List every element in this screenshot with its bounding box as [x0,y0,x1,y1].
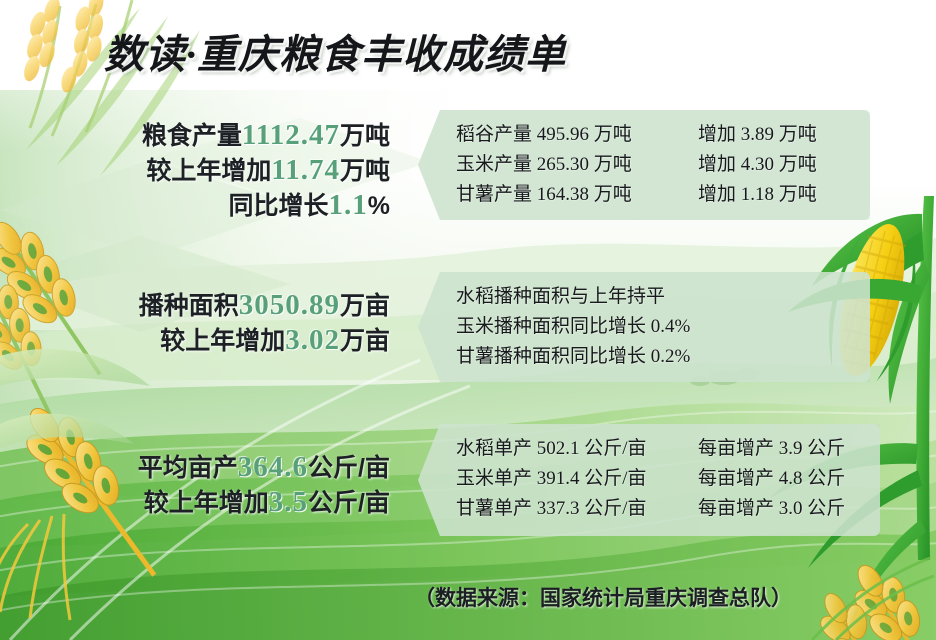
stat-value: 3.5 [269,486,308,518]
stat-value: 1.1 [329,189,368,221]
stat-unit: 万亩 [340,327,390,355]
detail-extra: 增加 3.89 万吨 [698,120,817,150]
stat-unit: 公斤/亩 [308,489,390,517]
stat-unit: 万吨 [340,157,390,185]
detail-extra: 增加 1.18 万吨 [698,180,817,210]
stat-line: 较上年增加3.5公斤/亩 [86,485,390,520]
detail-row: 玉米产量 265.30 万吨 增加 4.30 万吨 [456,150,854,180]
stat-label: 播种面积 [139,292,239,320]
stat-value: 3050.89 [239,289,340,321]
stat-label: 粮食产量 [142,122,242,150]
stat-label: 平均亩产 [138,454,238,482]
stat-value: 1112.47 [242,119,340,151]
detail-main: 水稻播种面积与上年持平 [456,282,665,312]
detail-row: 玉米播种面积同比增长 0.4% [456,312,854,342]
stat-line: 粮食产量1112.47万吨 [86,118,390,153]
detail-main: 甘薯单产 337.3 公斤/亩 [456,494,698,524]
detail-extra: 每亩增产 4.8 公斤 [698,464,845,494]
detail-main: 水稻单产 502.1 公斤/亩 [456,434,698,464]
detail-row: 水稻单产 502.1 公斤/亩 每亩增产 3.9 公斤 [456,434,864,464]
detail-main: 玉米播种面积同比增长 0.4% [456,312,690,342]
stat-line: 播种面积3050.89万亩 [86,288,390,323]
stat-line: 平均亩产364.6公斤/亩 [86,450,390,485]
stat-value: 3.02 [285,324,340,356]
stat-block-sown-area: 播种面积3050.89万亩 较上年增加3.02万亩 [86,288,390,358]
detail-row: 水稻播种面积与上年持平 [456,282,854,312]
detail-extra: 每亩增产 3.0 公斤 [698,494,845,524]
detail-row: 甘薯产量 164.38 万吨 增加 1.18 万吨 [456,180,854,210]
detail-main: 玉米单产 391.4 公斤/亩 [456,464,698,494]
data-source-note: （数据来源：国家统计局重庆调查总队） [414,582,792,612]
detail-row: 稻谷产量 495.96 万吨 增加 3.89 万吨 [456,120,854,150]
detail-extra: 增加 4.30 万吨 [698,150,817,180]
stat-label: 同比增长 [229,192,329,220]
detail-main: 稻谷产量 495.96 万吨 [456,120,698,150]
detail-panel-area: 水稻播种面积与上年持平 玉米播种面积同比增长 0.4% 甘薯播种面积同比增长 0… [418,272,870,382]
stat-block-yield-per-mu: 平均亩产364.6公斤/亩 较上年增加3.5公斤/亩 [86,450,390,520]
page-title: 数读·重庆粮食丰收成绩单 [104,22,566,80]
stat-label: 较上年增加 [146,157,271,185]
detail-row: 甘薯单产 337.3 公斤/亩 每亩增产 3.0 公斤 [456,494,864,524]
stat-line: 同比增长1.1% [86,188,390,223]
detail-panel-output: 稻谷产量 495.96 万吨 增加 3.89 万吨 玉米产量 265.30 万吨… [418,110,870,220]
stat-value: 364.6 [238,451,308,483]
stat-value: 11.74 [271,154,340,186]
stat-line: 较上年增加3.02万亩 [86,323,390,358]
detail-row: 甘薯播种面积同比增长 0.2% [456,342,854,372]
stat-line: 较上年增加11.74万吨 [86,153,390,188]
stat-unit: 公斤/亩 [308,454,390,482]
detail-main: 甘薯播种面积同比增长 0.2% [456,342,690,372]
infographic-poster: 数读·重庆粮食丰收成绩单 粮食产量1112.47万吨 较上年增加11.74万吨 … [0,0,936,640]
stat-label: 较上年增加 [144,489,269,517]
detail-extra: 每亩增产 3.9 公斤 [698,434,845,464]
stat-unit: 万吨 [340,122,390,150]
detail-row: 玉米单产 391.4 公斤/亩 每亩增产 4.8 公斤 [456,464,864,494]
stat-block-grain-output: 粮食产量1112.47万吨 较上年增加11.74万吨 同比增长1.1% [86,118,390,223]
detail-main: 甘薯产量 164.38 万吨 [456,180,698,210]
stat-unit: 万亩 [340,292,390,320]
stat-label: 较上年增加 [160,327,285,355]
detail-main: 玉米产量 265.30 万吨 [456,150,698,180]
stat-unit: % [368,192,390,220]
detail-panel-per-mu: 水稻单产 502.1 公斤/亩 每亩增产 3.9 公斤 玉米单产 391.4 公… [418,424,880,536]
